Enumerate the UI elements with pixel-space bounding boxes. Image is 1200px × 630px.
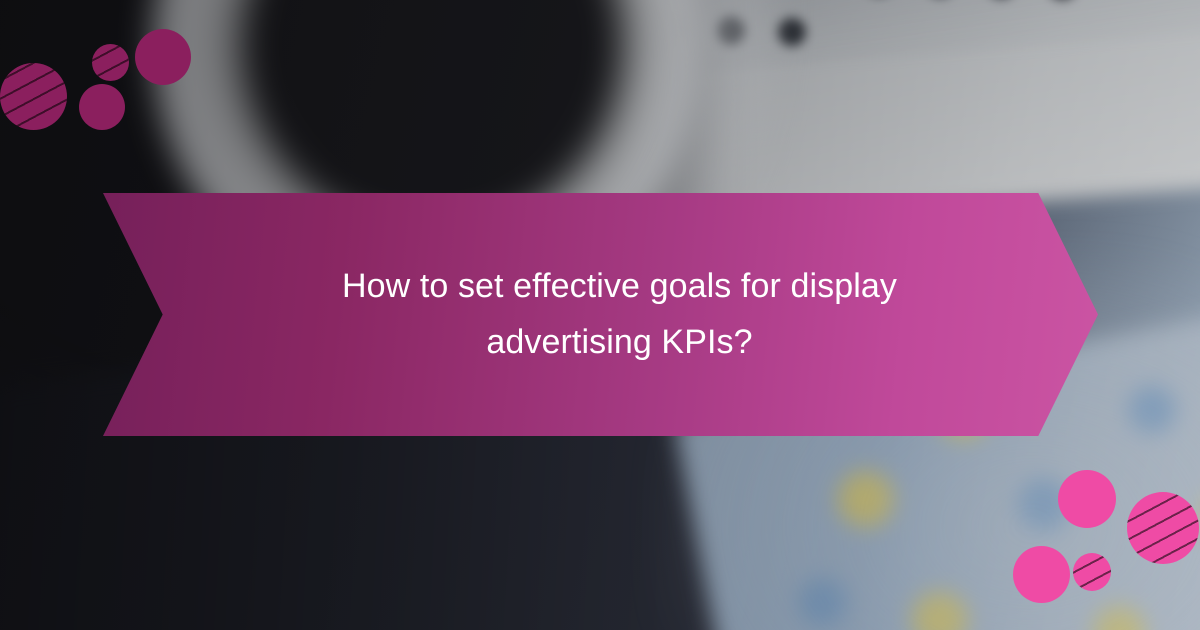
dot-large-plain: [1058, 470, 1116, 528]
dot-large-plain: [135, 29, 191, 85]
dot-stripe-overlay: [1073, 553, 1111, 591]
dot-stripe-overlay: [92, 44, 129, 81]
dot-stripe-overlay: [0, 63, 67, 130]
dot-xlarge-striped: [1127, 492, 1199, 564]
dot-medium-plain: [79, 84, 125, 130]
share-card-canvas: How to set effective goals for display a…: [0, 0, 1200, 630]
dot-small-striped: [92, 44, 129, 81]
banner-title: How to set effective goals for display a…: [252, 259, 950, 370]
dot-small-striped: [1073, 553, 1111, 591]
dot-medium-plain: [1013, 546, 1070, 603]
dot-large-striped: [0, 63, 67, 130]
headline-banner: How to set effective goals for display a…: [103, 193, 1098, 436]
dot-stripe-overlay: [1127, 492, 1199, 564]
